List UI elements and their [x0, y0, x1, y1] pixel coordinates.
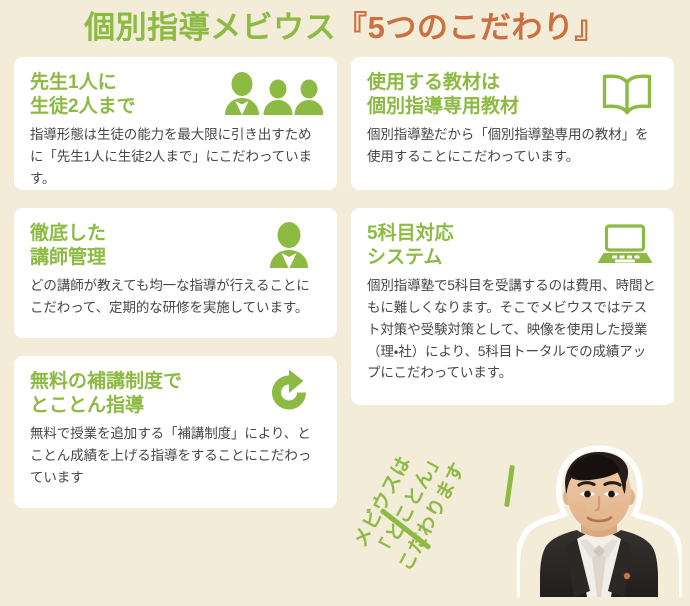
card-dedicated-materials: 使用する教材は 個別指導専用教材 個別指導塾だから「個別指導塾専用の教材」を使用…: [351, 57, 674, 190]
instructor-photo: [517, 445, 682, 597]
card-instructor-management: 徹底した 講師管理 どの講師が教えても均一な指導が行えることにこだわって、定期的…: [14, 208, 337, 338]
page-title-green: 個別指導メビウス: [84, 10, 336, 45]
people-group-icon: [223, 71, 323, 117]
refresh-arrow-icon: [265, 368, 313, 416]
laptop-icon: [596, 222, 654, 268]
card-column-left: 先生1人に 生徒2人まで 指導形態は生徒の能力を最大限に引き出すために「先生1人…: [14, 57, 337, 508]
promo-area: メビウスは 「とことん」 こだわります: [355, 425, 690, 597]
card-body-text: 指導形態は生徒の能力を最大限に引き出すために「先生1人に生徒2人まで」にこだわっ…: [30, 124, 321, 190]
card-five-subject-system: 5科目対応 システム 個別指導塾で5科目を受講するのは費用、時間ともに難しくなり…: [351, 208, 674, 405]
promo-handwriting-text: メビウスは 「とことん」 こだわります: [348, 416, 537, 605]
card-body-text: 個別指導塾で5科目を受講するのは費用、時間ともに難しくなります。そこでメビウスで…: [367, 275, 658, 384]
card-teacher-student-ratio: 先生1人に 生徒2人まで 指導形態は生徒の能力を最大限に引き出すために「先生1人…: [14, 57, 337, 190]
open-book-icon: [600, 71, 654, 117]
card-body-text: 個別指導塾だから「個別指導塾専用の教材」を使用することにこだわっています。: [367, 124, 658, 168]
page-title-orange: 『5つのこだわり』: [336, 10, 606, 45]
page-title: 個別指導メビウス『5つのこだわり』: [0, 0, 690, 48]
card-free-supplementary-lessons: 無料の補講制度で とことん指導 無料で授業を追加する「補講制度」により、とことん…: [14, 356, 337, 508]
teacher-person-icon: [267, 222, 311, 270]
card-body-text: 無料で授業を追加する「補講制度」により、とことん成績を上げる指導をすることにこだ…: [30, 423, 321, 489]
card-body-text: どの講師が教えても均一な指導が行えることにこだわって、定期的な研修を実施していま…: [30, 275, 321, 319]
